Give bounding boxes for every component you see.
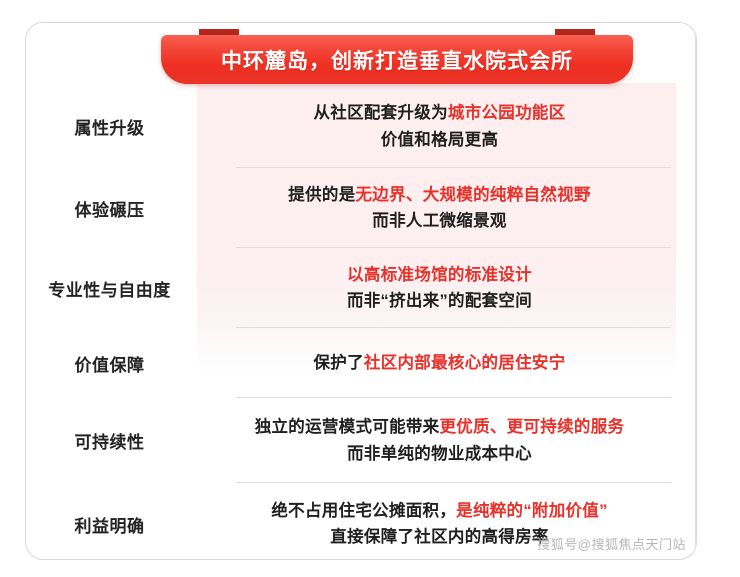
table-row: 可持续性独立的运营模式可能带来更优质、更可持续的服务而非单纯的物业成本中心 — [26, 398, 697, 483]
content-line: 以高标准场馆的标准设计 — [347, 262, 532, 288]
plain-text: 而非单纯的物业成本中心 — [347, 445, 532, 463]
plain-text: 价值和格局更高 — [381, 131, 499, 149]
content-line: 保护了社区内部最核心的居住安宁 — [313, 350, 565, 376]
plain-text: 独立的运营模式可能带来 — [255, 418, 440, 436]
row-content-cell: 以高标准场馆的标准设计而非“挤出来”的配套空间 — [197, 262, 697, 315]
banner-ribbon-body: 中环麓岛，创新打造垂直水院式会所 — [161, 35, 633, 84]
content-line: 绝不占用住宅公摊面积，是纯粹的“附加价值” — [271, 498, 607, 524]
plain-text: 保护了 — [313, 354, 363, 372]
row-label: 价值保障 — [75, 351, 145, 376]
plain-text: 提供的是 — [288, 186, 355, 204]
row-label-cell: 专业性与自由度 — [26, 276, 197, 301]
row-content-cell: 从社区配套升级为城市公园功能区价值和格局更高 — [197, 100, 697, 153]
content-line: 价值和格局更高 — [381, 127, 499, 153]
row-content-cell: 独立的运营模式可能带来更优质、更可持续的服务而非单纯的物业成本中心 — [197, 414, 697, 467]
row-label-cell: 体验碾压 — [26, 196, 197, 221]
row-content-cell: 提供的是无边界、大规模的纯粹自然视野而非人工微缩景观 — [197, 182, 697, 235]
plain-text: 直接保障了社区内的高得房率 — [330, 528, 548, 546]
highlight-text: 更优质、更可持续的服务 — [440, 418, 625, 436]
row-label-cell: 利益明确 — [26, 512, 197, 537]
plain-text: 绝不占用住宅公摊面积， — [271, 502, 456, 520]
highlight-text: 是纯粹的“附加价值” — [456, 502, 608, 520]
row-label: 利益明确 — [75, 512, 145, 537]
banner-ribbon: 中环麓岛，创新打造垂直水院式会所 — [161, 29, 633, 85]
highlight-text: 城市公园功能区 — [448, 104, 566, 122]
rows-container: 属性升级从社区配套升级为城市公园功能区价值和格局更高体验碾压提供的是无边界、大规… — [26, 85, 697, 560]
highlight-text: 无边界、大规模的纯粹自然视野 — [356, 186, 591, 204]
row-label: 属性升级 — [75, 114, 145, 139]
row-label: 体验碾压 — [75, 196, 145, 221]
plain-text: 而非人工微缩景观 — [372, 212, 506, 230]
row-label: 可持续性 — [75, 428, 145, 453]
highlight-text: 社区内部最核心的居住安宁 — [364, 354, 566, 372]
content-line: 而非单纯的物业成本中心 — [347, 441, 532, 467]
table-row: 属性升级从社区配套升级为城市公园功能区价值和格局更高 — [26, 85, 697, 168]
table-row: 体验碾压提供的是无边界、大规模的纯粹自然视野而非人工微缩景观 — [26, 168, 697, 248]
infographic-card: 中环麓岛，创新打造垂直水院式会所 属性升级从社区配套升级为城市公园功能区价值和格… — [25, 22, 697, 560]
table-row: 专业性与自由度以高标准场馆的标准设计而非“挤出来”的配套空间 — [26, 248, 697, 328]
content-line: 从社区配套升级为城市公园功能区 — [313, 100, 565, 126]
content-line: 而非“挤出来”的配套空间 — [347, 288, 532, 314]
content-line: 而非人工微缩景观 — [372, 208, 506, 234]
row-label-cell: 属性升级 — [26, 114, 197, 139]
highlight-text: 以高标准场馆的标准设计 — [347, 266, 532, 284]
table-row: 价值保障保护了社区内部最核心的居住安宁 — [26, 328, 697, 398]
content-line: 直接保障了社区内的高得房率 — [330, 524, 548, 550]
banner-title: 中环麓岛，创新打造垂直水院式会所 — [221, 45, 573, 75]
plain-text: 从社区配套升级为 — [313, 104, 447, 122]
row-content-cell: 保护了社区内部最核心的居住安宁 — [197, 350, 697, 376]
watermark: 搜狐号@搜狐焦点天门站 — [537, 534, 686, 553]
content-line: 提供的是无边界、大规模的纯粹自然视野 — [288, 182, 590, 208]
row-label: 专业性与自由度 — [48, 276, 171, 301]
plain-text: 而非“挤出来”的配套空间 — [347, 292, 532, 310]
row-label-cell: 可持续性 — [26, 428, 197, 453]
row-label-cell: 价值保障 — [26, 351, 197, 376]
content-line: 独立的运营模式可能带来更优质、更可持续的服务 — [255, 414, 625, 440]
right-divider — [695, 23, 696, 560]
